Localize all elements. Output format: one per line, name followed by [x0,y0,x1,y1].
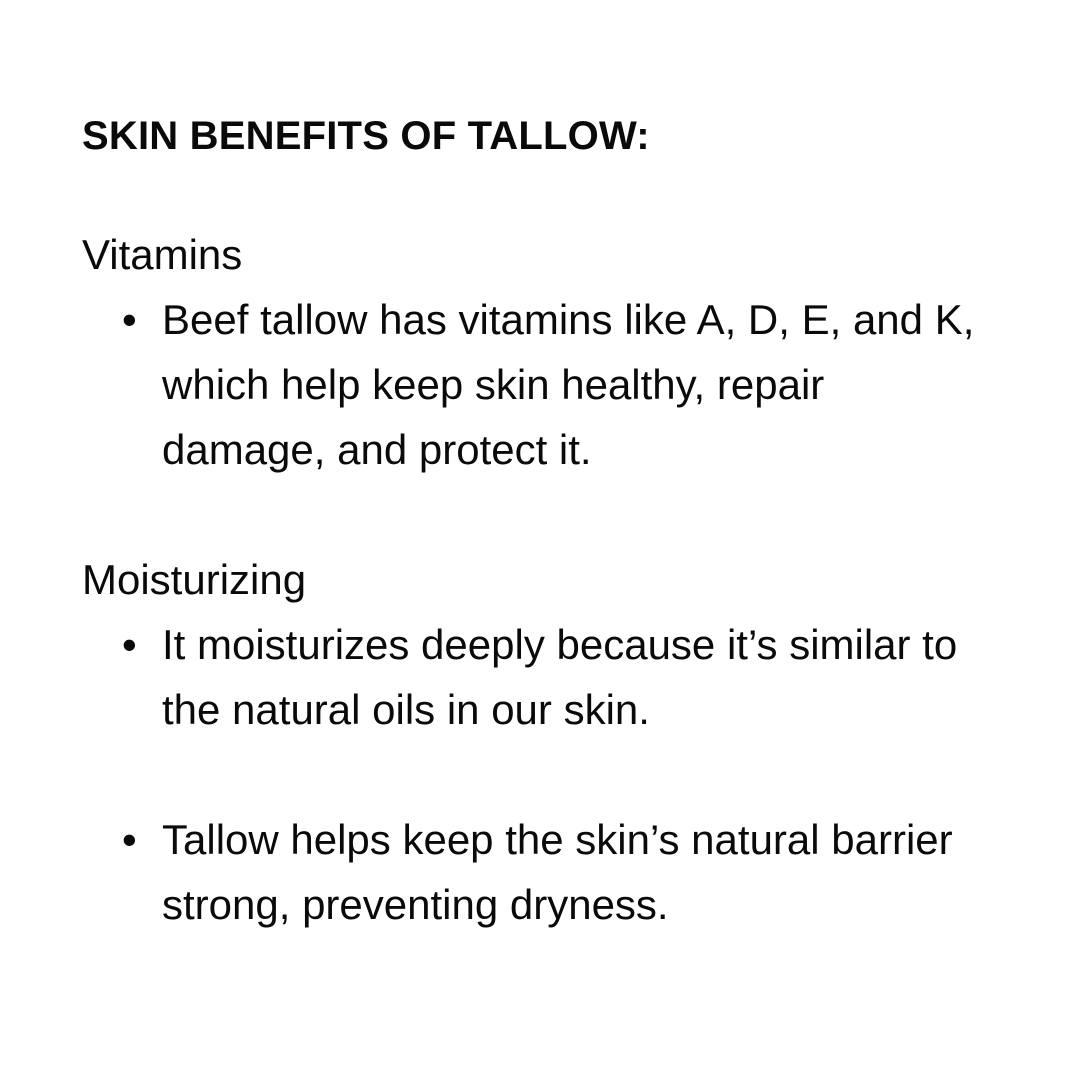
bullet-point-icon: • [122,807,142,872]
section-title-vitamins: Vitamins [82,222,998,287]
bullet-list-moisturizing: • It moisturizes deeply because it’s sim… [82,612,998,937]
section-moisturizing: Moisturizing • It moisturizes deeply bec… [82,547,998,937]
bullet-point-icon: • [122,612,142,677]
bullet-point-icon: • [122,287,142,352]
bullet-list-vitamins: • Beef tallow has vitamins like A, D, E,… [82,287,998,482]
section-title-moisturizing: Moisturizing [82,547,998,612]
list-item: • Beef tallow has vitamins like A, D, E,… [82,287,992,482]
list-item-text: Beef tallow has vitamins like A, D, E, a… [162,287,992,482]
section-vitamins: Vitamins • Beef tallow has vitamins like… [82,222,998,482]
bullet-gap [82,742,998,807]
page-title: SKIN BENEFITS OF TALLOW: [82,108,998,164]
slide-canvas: SKIN BENEFITS OF TALLOW: Vitamins • Beef… [0,0,1080,1080]
list-item-text: It moisturizes deeply because it’s simil… [162,612,992,742]
list-item-text: Tallow helps keep the skin’s natural bar… [162,807,992,937]
list-item: • Tallow helps keep the skin’s natural b… [82,807,992,937]
section-gap [82,482,998,547]
heading-spacer [82,164,998,222]
list-item: • It moisturizes deeply because it’s sim… [82,612,992,742]
